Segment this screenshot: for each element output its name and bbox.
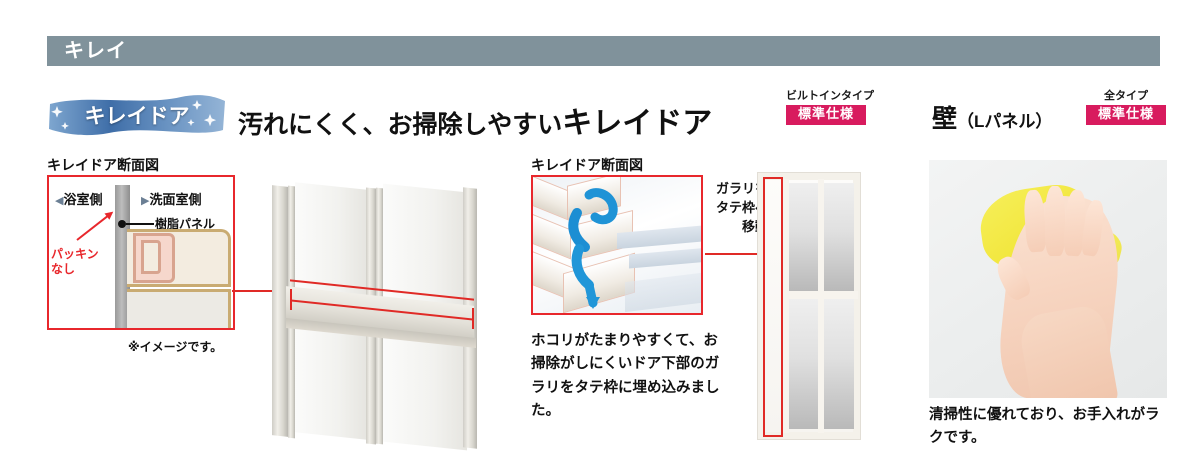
- badge-builtin-type: ビルトインタイプ 標準仕様: [786, 90, 866, 125]
- label-washroom-side: ▶洗面室側: [141, 189, 201, 208]
- door-glass-br: [824, 299, 854, 429]
- section-header-bar: キレイ: [47, 36, 1160, 66]
- image-disclaimer-note: ※イメージです。: [128, 338, 222, 355]
- sparkle-icon: [47, 92, 227, 138]
- badge-all-caption: 全タイプ: [1086, 90, 1166, 102]
- finger-2: [1045, 186, 1065, 256]
- door-mullion-horizontal: [784, 291, 858, 299]
- left-diagram-caption: キレイドア断面図: [47, 155, 159, 175]
- badge-all-type: 全タイプ 標準仕様: [1086, 90, 1166, 125]
- left-cross-section-diagram: ◀浴室側 ▶洗面室側 樹脂パネル パッキン なし: [47, 175, 235, 330]
- middle-leader-line: [705, 253, 757, 255]
- airflow-arrows-icon: [533, 177, 703, 315]
- badge-all-pill: 標準仕様: [1086, 105, 1166, 125]
- frame-lower-box: [127, 289, 231, 330]
- kirei-door-logo: キレイドア: [47, 92, 227, 138]
- middle-diagram-caption: キレイドア断面図: [531, 155, 643, 175]
- page-headline: 汚れにくく、お掃除しやすいキレイドア: [238, 98, 712, 142]
- folding-door-photo: [757, 172, 861, 440]
- door-stile-inner: [782, 179, 789, 433]
- highlight-right: [472, 308, 474, 329]
- frame-profile-core: [141, 240, 161, 274]
- louver-cutaway-diagram: [531, 175, 703, 315]
- wall-cleaning-photo: [929, 160, 1167, 398]
- headline-lead: 汚れにくく、お掃除しやすい: [238, 111, 562, 139]
- middle-body-text: ホコリがたまりやすくて、お掃除がしにくいドア下部のガラリをタテ枠に埋め込みました…: [531, 330, 721, 424]
- headline-emphasis: キレイドア: [562, 107, 712, 140]
- door-bottom-rail-photo: [258, 168, 513, 453]
- wall-section-title: 壁（Lパネル）: [932, 99, 1052, 135]
- door-glass-tl: [788, 183, 818, 291]
- callout-dot: [118, 220, 126, 228]
- wall-title-main: 壁: [932, 105, 957, 133]
- wall-body-text: 清掃性に優れており、お手入れがラクです。: [929, 404, 1165, 451]
- red-arrow-icon: [76, 212, 112, 241]
- highlight-left: [290, 289, 292, 310]
- label-bathroom-side: ◀浴室側: [55, 189, 102, 208]
- annotation-line-1: パッキン: [51, 247, 99, 261]
- highlight-vertical-frame: [763, 177, 783, 437]
- door-glass-bl: [788, 299, 818, 429]
- badge-builtin-pill: 標準仕様: [786, 105, 866, 125]
- door-glass-tr: [824, 183, 854, 291]
- annotation-no-packing: パッキン なし: [51, 247, 99, 277]
- annotation-line-2: なし: [51, 262, 75, 276]
- door-mullion-vertical: [818, 179, 824, 433]
- badge-builtin-caption: ビルトインタイプ: [786, 90, 866, 102]
- wall-title-paren: （Lパネル）: [957, 112, 1052, 131]
- section-title: キレイ: [47, 41, 127, 61]
- callout-leader-line: [126, 223, 154, 225]
